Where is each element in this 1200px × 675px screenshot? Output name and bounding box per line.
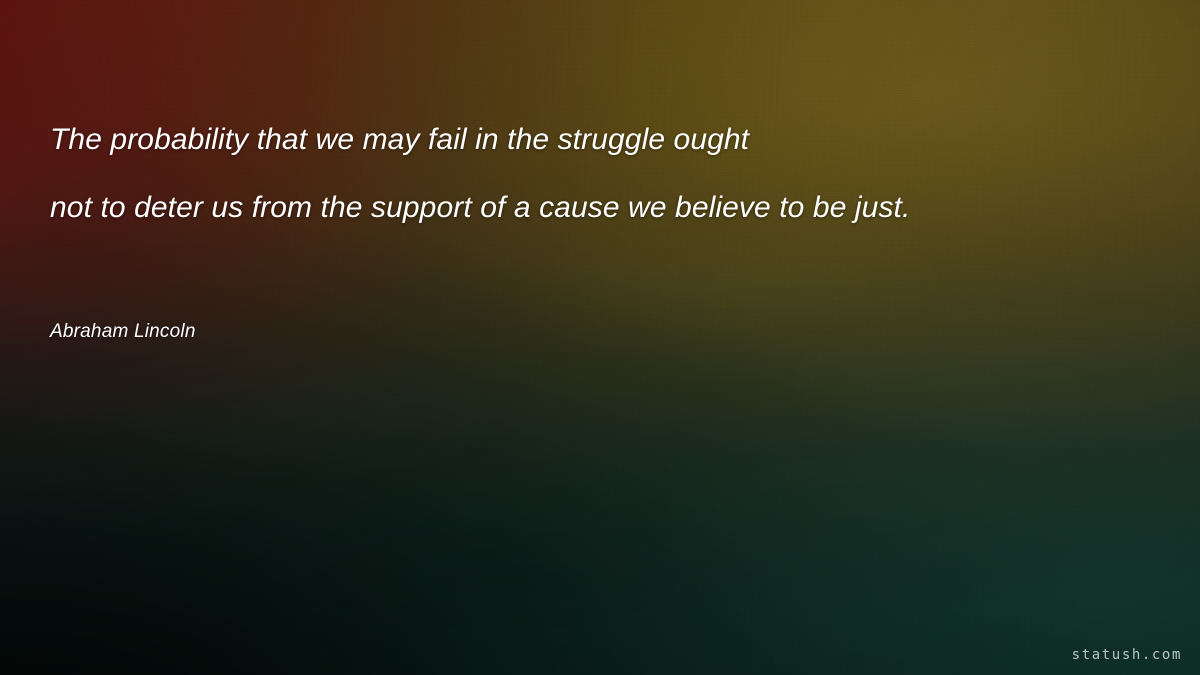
quote-card: The probability that we may fail in the … [0,0,1200,675]
quote-text: The probability that we may fail in the … [50,106,1140,242]
quote-line-1: The probability that we may fail in the … [50,106,1140,174]
card-content: The probability that we may fail in the … [0,0,1200,675]
quote-line-2: not to deter us from the support of a ca… [50,174,1140,242]
site-watermark: statush.com [1072,647,1182,663]
quote-author: Abraham Lincoln [50,321,196,343]
